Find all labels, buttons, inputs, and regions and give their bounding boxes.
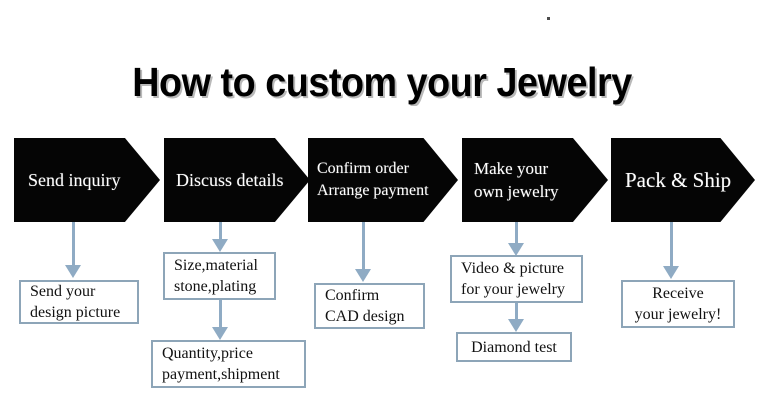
- detail-line: Diamond test: [471, 337, 557, 358]
- detail-box-video-picture[interactable]: Video & picture for your jewelry: [450, 255, 583, 303]
- detail-line: Send your: [30, 281, 95, 302]
- connector-stem: [515, 222, 518, 244]
- step-arrow-label-line: Send inquiry: [28, 168, 121, 192]
- connector-stem: [515, 303, 518, 320]
- connector-size-material-to-quantity: [209, 300, 231, 340]
- detail-line: Receive: [652, 283, 704, 304]
- detail-line: Video & picture: [461, 258, 564, 279]
- connector-discuss-to-size-material: [209, 222, 231, 252]
- detail-line: your jewelry!: [635, 304, 722, 325]
- detail-line: CAD design: [325, 306, 405, 327]
- connector-stem: [72, 222, 75, 266]
- page-title: How to custom your Jewelry: [31, 58, 734, 106]
- step-arrow-label-line: own jewelry: [474, 180, 559, 203]
- detail-line: stone,plating: [174, 276, 256, 297]
- connector-pack-ship-to-receive: [660, 222, 682, 279]
- connector-arrowhead: [508, 319, 524, 332]
- connector-send-inquiry-to-detail: [62, 222, 84, 278]
- step-arrow-label-line: Pack & Ship: [625, 167, 731, 193]
- image-artifact-speck: [547, 17, 550, 20]
- connector-stem: [219, 300, 222, 328]
- connector-arrowhead: [65, 265, 81, 278]
- step-arrow-label-line: Confirm order: [317, 158, 409, 180]
- detail-line: payment,shipment: [162, 364, 280, 385]
- step-arrow-send-inquiry[interactable]: Send inquiry: [14, 138, 160, 222]
- step-arrow-label-line: Discuss details: [176, 168, 284, 192]
- connector-make-jewelry-to-video: [505, 222, 527, 256]
- infographic-canvas: How to custom your Jewelry Send inquiry …: [0, 0, 764, 420]
- detail-line: Confirm: [325, 285, 379, 306]
- connector-video-to-diamond-test: [505, 303, 527, 332]
- detail-box-receive-jewelry[interactable]: Receive your jewelry!: [621, 280, 735, 328]
- connector-stem: [670, 222, 673, 267]
- connector-confirm-order-to-cad: [352, 222, 374, 282]
- step-arrow-make-jewelry[interactable]: Make your own jewelry: [462, 138, 608, 222]
- step-arrow-pack-ship[interactable]: Pack & Ship: [611, 138, 755, 222]
- detail-box-quantity-price[interactable]: Quantity,price payment,shipment: [151, 340, 306, 388]
- detail-box-send-design-picture[interactable]: Send your design picture: [19, 280, 139, 324]
- connector-arrowhead: [212, 327, 228, 340]
- detail-box-confirm-cad-design[interactable]: Confirm CAD design: [314, 283, 425, 329]
- detail-line: Size,material: [174, 255, 258, 276]
- step-arrow-discuss-details[interactable]: Discuss details: [164, 138, 310, 222]
- connector-arrowhead: [355, 269, 371, 282]
- connector-arrowhead: [663, 266, 679, 279]
- connector-stem: [362, 222, 365, 270]
- detail-line: Quantity,price: [162, 343, 253, 364]
- step-arrow-confirm-order[interactable]: Confirm order Arrange payment: [308, 138, 458, 222]
- detail-line: for your jewelry: [461, 279, 565, 300]
- connector-arrowhead: [212, 239, 228, 252]
- detail-box-size-material[interactable]: Size,material stone,plating: [163, 252, 276, 300]
- detail-line: design picture: [30, 302, 120, 323]
- step-arrow-label-line: Arrange payment: [317, 180, 429, 202]
- detail-box-diamond-test[interactable]: Diamond test: [456, 332, 572, 362]
- step-arrow-label-line: Make your: [474, 157, 548, 180]
- connector-stem: [219, 222, 222, 240]
